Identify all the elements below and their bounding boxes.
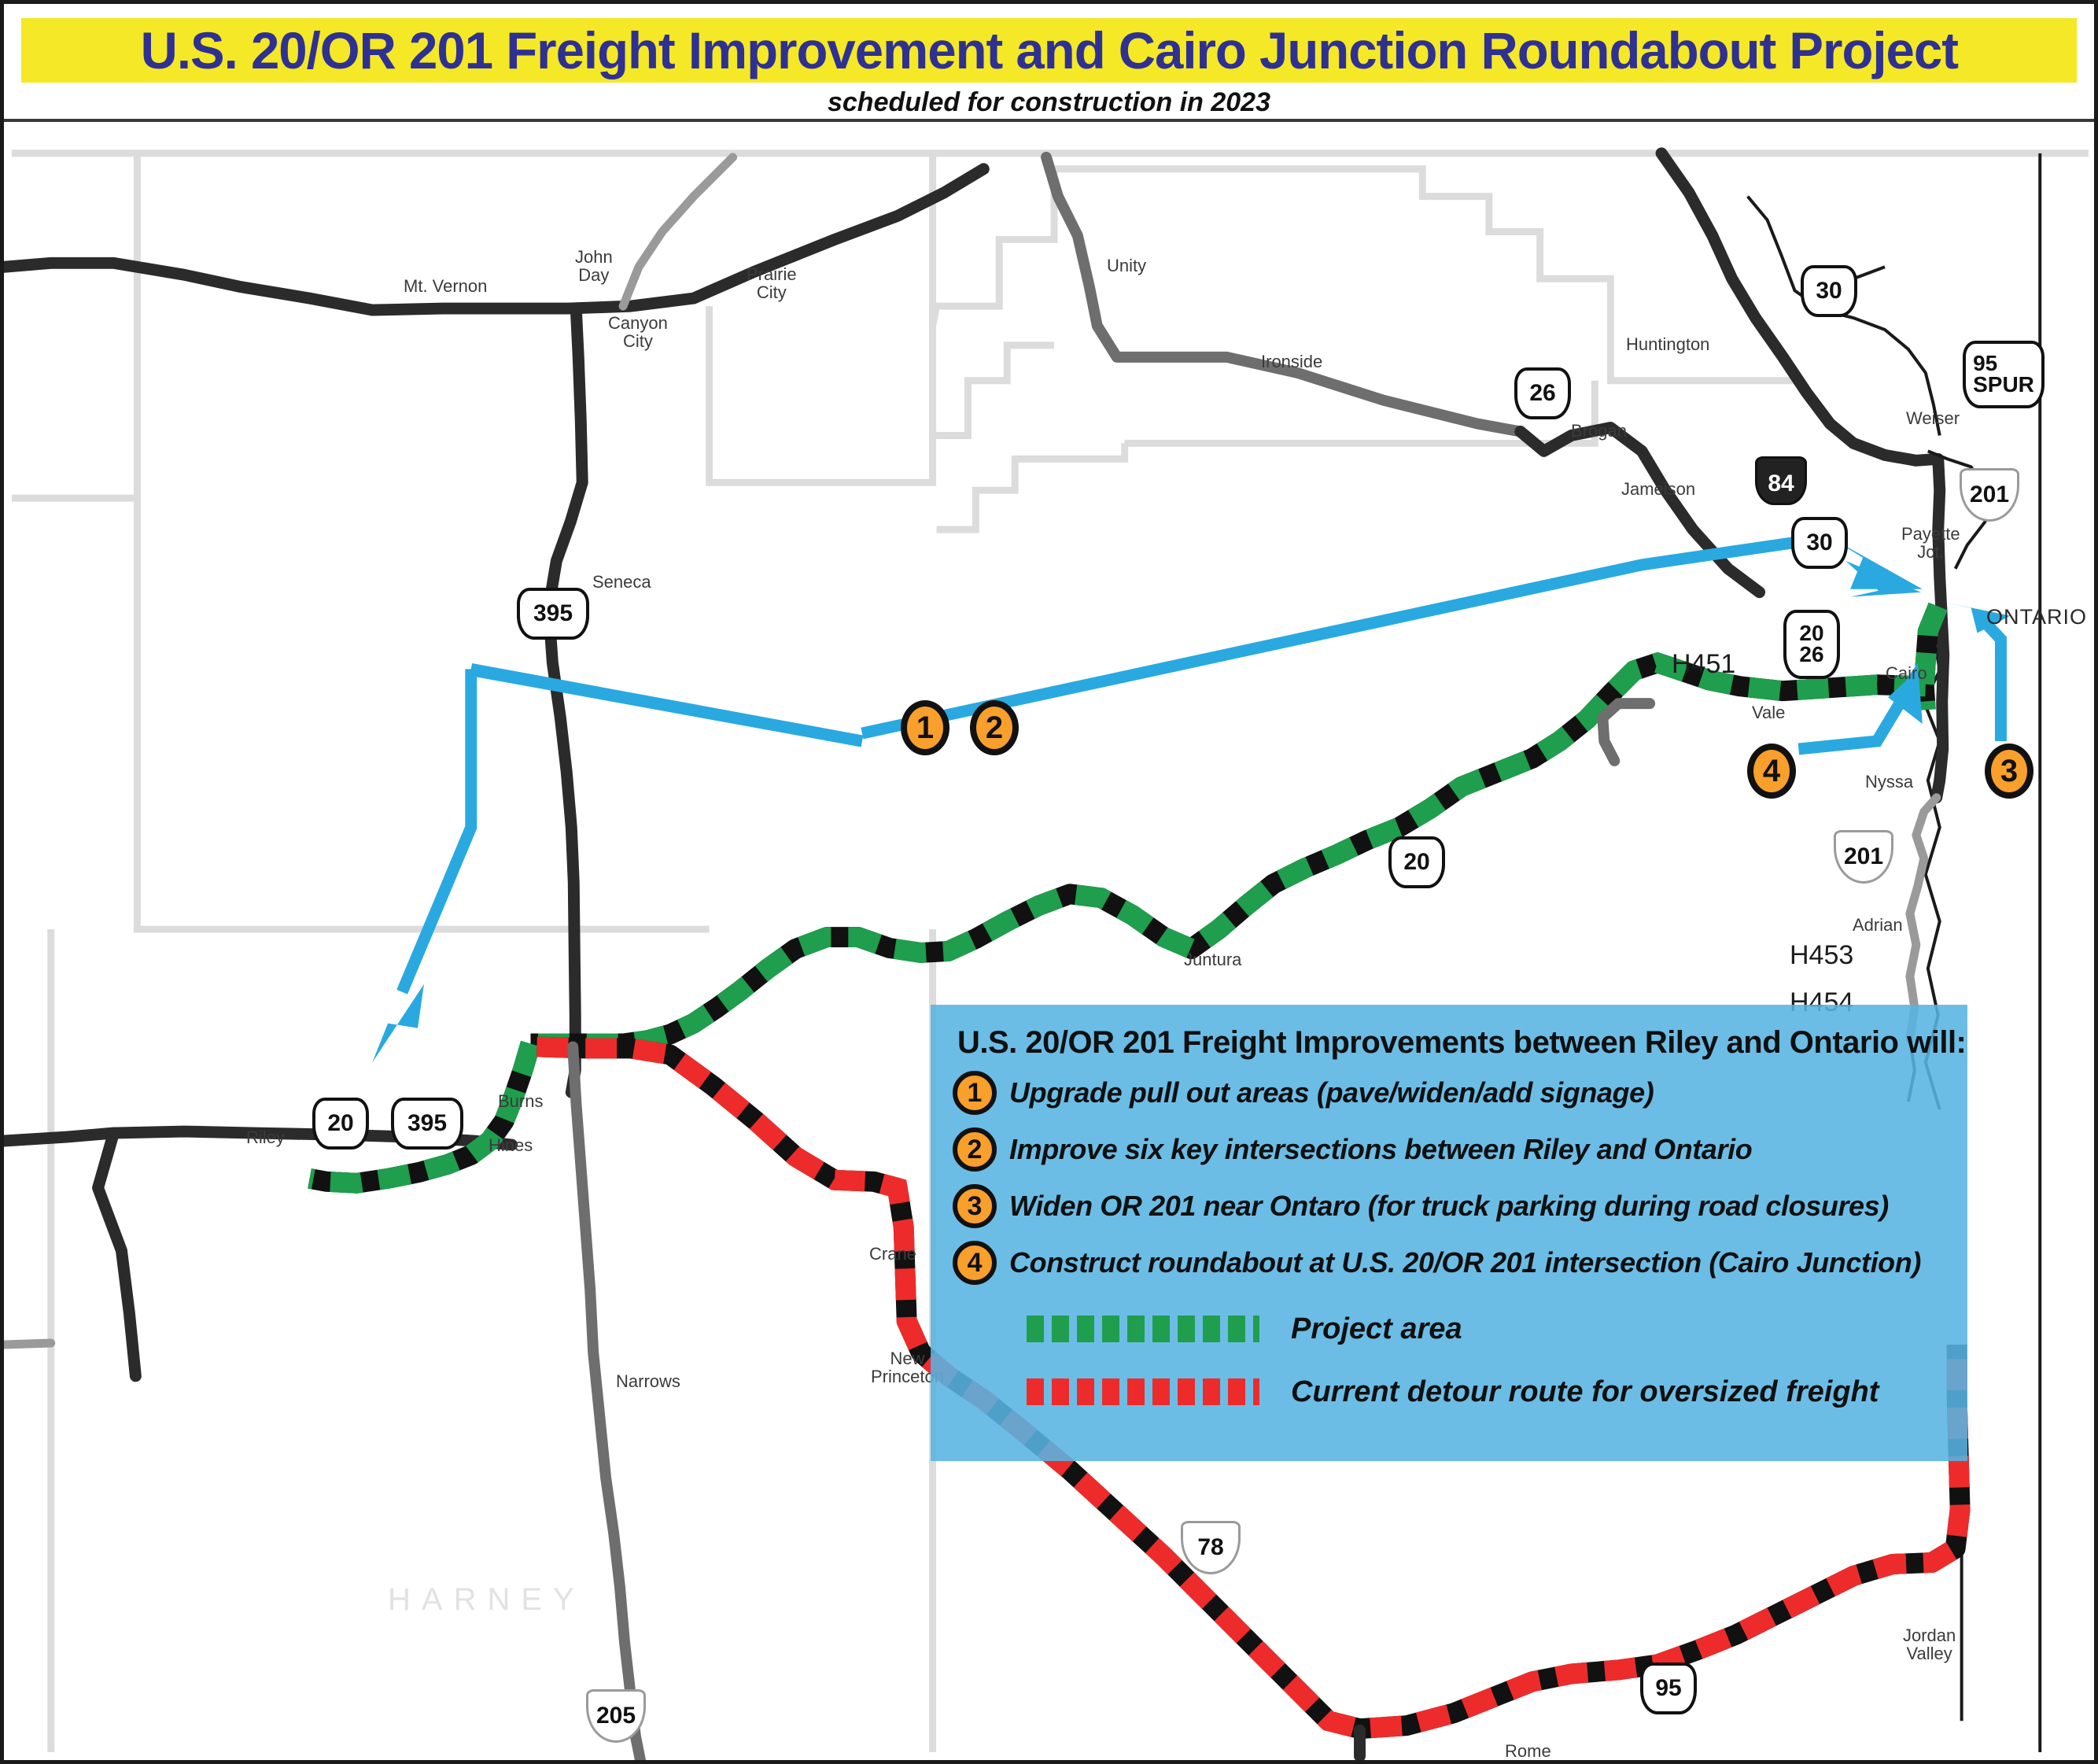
place-label-ontario: ONTARIO xyxy=(1986,605,2087,629)
page-title: U.S. 20/OR 201 Freight Improvement and C… xyxy=(140,24,1957,76)
legend-item-4: 4 Construct roundabout at U.S. 20/OR 201… xyxy=(953,1237,1947,1289)
place-label-seneca: Seneca xyxy=(592,572,651,592)
place-label-hines: Hines xyxy=(489,1135,533,1156)
place-label-prairie-city: PrairieCity xyxy=(747,265,797,301)
place-label-john-day: JohnDay xyxy=(575,248,613,284)
place-label-vale: Vale xyxy=(1752,703,1785,723)
legend-panel: U.S. 20/OR 201 Freight Improvements betw… xyxy=(931,1005,1967,1461)
legend-text-2: Improve six key intersections between Ri… xyxy=(1009,1133,1752,1166)
shield-us-395-seneca: 395 xyxy=(517,588,589,640)
place-label-jordan-valley: JordanValley xyxy=(1903,1626,1956,1663)
legend-marker-1: 1 xyxy=(953,1071,997,1115)
place-label-weiser: Weiser xyxy=(1906,408,1960,429)
shield-us-20-26: 2026 xyxy=(1783,610,1840,679)
detour-swatch xyxy=(1027,1378,1259,1405)
place-label-cairo: Cairo xyxy=(1886,663,1927,684)
place-label-ironside: Ironside xyxy=(1261,352,1322,372)
place-label-canyon-city: CanyonCity xyxy=(608,314,668,350)
legend-item-1: 1 Upgrade pull out areas (pave/widen/add… xyxy=(953,1067,1947,1119)
place-label-unity: Unity xyxy=(1107,256,1146,276)
map-callout-3[interactable]: 3 xyxy=(1985,744,2033,799)
shield-us-95: 95 xyxy=(1640,1663,1697,1714)
map-vector: .cty{fill:none;stroke:#dcdcdc;stroke-wid… xyxy=(4,122,2094,1760)
shield-us-30-north: 30 xyxy=(1801,265,1857,317)
legend-text-3: Widen OR 201 near Ontaro (for truck park… xyxy=(1009,1190,1889,1223)
place-label-nyssa: Nyssa xyxy=(1865,772,1913,792)
map-callout-4[interactable]: 4 xyxy=(1747,744,1796,799)
place-label-payette-jct: PayetteJct. xyxy=(1901,525,1960,561)
map-poster: U.S. 20/OR 201 Freight Improvement and C… xyxy=(0,0,2098,1764)
map-callout-1[interactable]: 1 xyxy=(901,700,949,755)
map-canvas[interactable]: .cty{fill:none;stroke:#dcdcdc;stroke-wid… xyxy=(4,122,2094,1760)
place-label-crane: Crane xyxy=(869,1244,916,1264)
place-label-narrows: Narrows xyxy=(616,1371,680,1392)
legend-marker-3: 3 xyxy=(953,1184,997,1228)
place-label-riley: Riley xyxy=(246,1127,285,1148)
place-label-juntura: Juntura xyxy=(1184,950,1241,970)
county-label-harney: HARNEY xyxy=(388,1582,585,1618)
shield-us-30-south: 30 xyxy=(1791,517,1848,569)
project-area-swatch xyxy=(1027,1316,1259,1342)
shield-us-20-riley: 20 xyxy=(312,1098,369,1150)
legend-key-detour: Current detour route for oversized freig… xyxy=(1027,1369,1947,1415)
shield-us-395-burns: 395 xyxy=(391,1098,463,1150)
project-area-label: Project area xyxy=(1291,1312,1462,1346)
route-label-h451: H451 xyxy=(1672,649,1735,680)
shield-us-26: 26 xyxy=(1514,367,1571,419)
legend-marker-4: 4 xyxy=(953,1241,997,1285)
place-label-brogan: Brogan xyxy=(1571,421,1627,441)
legend-marker-2: 2 xyxy=(953,1127,997,1172)
legend-text-4: Construct roundabout at U.S. 20/OR 201 i… xyxy=(1009,1246,1921,1279)
route-label-h453: H453 xyxy=(1790,940,1853,971)
page-subtitle: scheduled for construction in 2023 xyxy=(4,87,2094,118)
place-label-burns: Burns xyxy=(498,1091,543,1112)
detour-label: Current detour route for oversized freig… xyxy=(1291,1375,1879,1409)
place-label-rome: Rome xyxy=(1505,1741,1551,1760)
shield-us-20-juntura: 20 xyxy=(1388,836,1445,888)
legend-text-1: Upgrade pull out areas (pave/widen/add s… xyxy=(1009,1076,1654,1109)
title-band: U.S. 20/OR 201 Freight Improvement and C… xyxy=(21,18,2077,83)
legend-item-3: 3 Widen OR 201 near Ontaro (for truck pa… xyxy=(953,1180,1947,1232)
place-label-huntington: Huntington xyxy=(1626,334,1709,355)
legend-title: U.S. 20/OR 201 Freight Improvements betw… xyxy=(957,1025,1947,1061)
place-label-jameison: Jameison xyxy=(1621,479,1695,500)
map-callout-2[interactable]: 2 xyxy=(970,700,1019,755)
legend-item-2: 2 Improve six key intersections between … xyxy=(953,1124,1947,1175)
shield-us-95-spur: 95SPUR xyxy=(1963,341,2045,408)
place-label-mt-vernon: Mt. Vernon xyxy=(404,276,487,297)
poster-header: U.S. 20/OR 201 Freight Improvement and C… xyxy=(4,4,2094,122)
legend-key-project-area: Project area xyxy=(1027,1306,1947,1352)
place-label-adrian: Adrian xyxy=(1853,915,1903,936)
shield-interstate-84: 84 xyxy=(1755,456,1807,505)
